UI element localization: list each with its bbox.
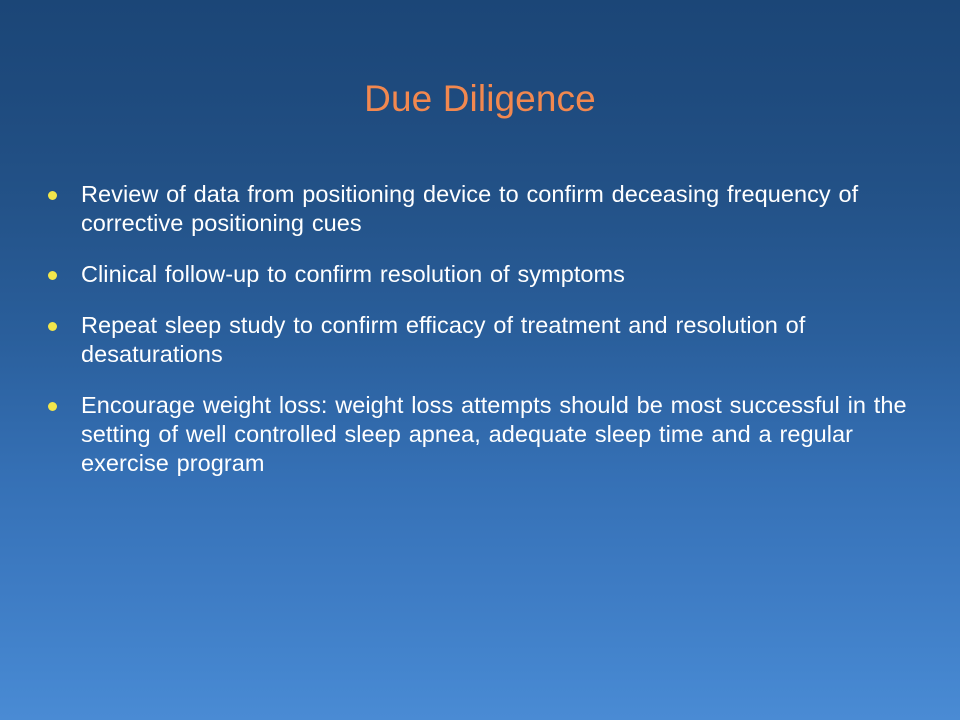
list-item-text: Encourage weight loss: weight loss attem… <box>81 391 916 478</box>
list-item-text: Clinical follow-up to confirm resolution… <box>81 260 916 289</box>
presentation-slide: Due Diligence Review of data from positi… <box>0 0 960 720</box>
bullet-dot-icon <box>48 402 57 411</box>
list-item-text: Review of data from positioning device t… <box>81 180 916 238</box>
list-item-text: Repeat sleep study to confirm efficacy o… <box>81 311 916 369</box>
bullet-list: Review of data from positioning device t… <box>44 180 916 478</box>
list-item: Clinical follow-up to confirm resolution… <box>44 260 916 289</box>
bullet-dot-icon <box>48 271 57 280</box>
list-item: Repeat sleep study to confirm efficacy o… <box>44 311 916 369</box>
list-item: Review of data from positioning device t… <box>44 180 916 238</box>
slide-title: Due Diligence <box>0 77 960 121</box>
bullet-dot-icon <box>48 322 57 331</box>
bullet-dot-icon <box>48 191 57 200</box>
list-item: Encourage weight loss: weight loss attem… <box>44 391 916 478</box>
